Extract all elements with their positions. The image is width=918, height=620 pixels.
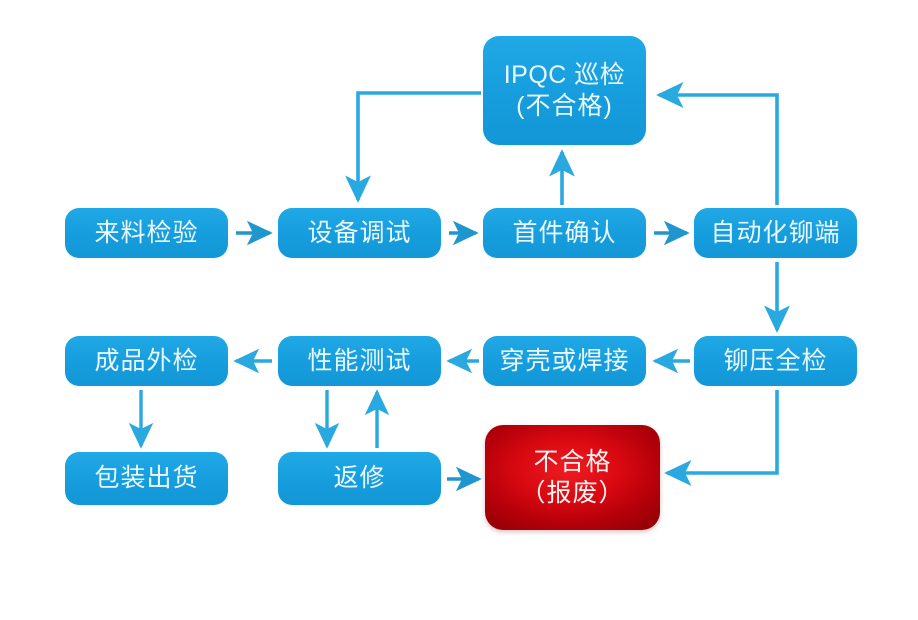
node-first-article-confirm-label: 首件确认 — [512, 218, 616, 249]
node-auto-riveting[interactable]: 自动化铆端 — [694, 208, 857, 258]
node-auto-riveting-label: 自动化铆端 — [710, 218, 840, 249]
node-performance-test-label: 性能测试 — [307, 346, 411, 377]
node-incoming-inspection[interactable]: 来料检验 — [65, 208, 228, 258]
node-packing-shipment-label: 包装出货 — [94, 463, 198, 494]
connector-rivetinginspection-to-reject — [667, 390, 777, 473]
node-final-visual-inspection[interactable]: 成品外检 — [65, 336, 228, 386]
connector-layer — [0, 0, 918, 620]
node-first-article-confirm[interactable]: 首件确认 — [483, 208, 646, 258]
node-equipment-setup[interactable]: 设备调试 — [278, 208, 441, 258]
node-packing-shipment[interactable]: 包装出货 — [65, 452, 228, 505]
node-incoming-inspection-label: 来料检验 — [94, 218, 198, 249]
node-rework[interactable]: 返修 — [278, 452, 441, 505]
node-reject-scrap[interactable]: 不合格 （报废） — [485, 425, 660, 530]
connector-autoriveting-to-ipqc — [659, 95, 777, 205]
node-ipqc-label-line2: (不合格) — [516, 91, 613, 122]
node-ipqc[interactable]: IPQC 巡检 (不合格) — [483, 36, 646, 145]
node-reject-scrap-label-line1: 不合格 — [533, 447, 611, 478]
node-riveting-full-inspection[interactable]: 铆压全检 — [694, 336, 857, 386]
node-final-visual-inspection-label: 成品外检 — [94, 346, 198, 377]
node-rework-label: 返修 — [333, 463, 385, 494]
node-casing-or-welding[interactable]: 穿壳或焊接 — [483, 336, 646, 386]
node-equipment-setup-label: 设备调试 — [307, 218, 411, 249]
node-ipqc-label-line1: IPQC 巡检 — [504, 60, 626, 91]
node-casing-or-welding-label: 穿壳或焊接 — [499, 346, 629, 377]
connector-ipqc-to-setup — [358, 93, 481, 200]
node-riveting-full-inspection-label: 铆压全检 — [723, 346, 827, 377]
flowchart-canvas: IPQC 巡检 (不合格) 来料检验 设备调试 首件确认 自动化铆端 铆压全检 … — [0, 0, 918, 620]
node-reject-scrap-label-line2: （报废） — [520, 478, 624, 509]
node-performance-test[interactable]: 性能测试 — [278, 336, 441, 386]
